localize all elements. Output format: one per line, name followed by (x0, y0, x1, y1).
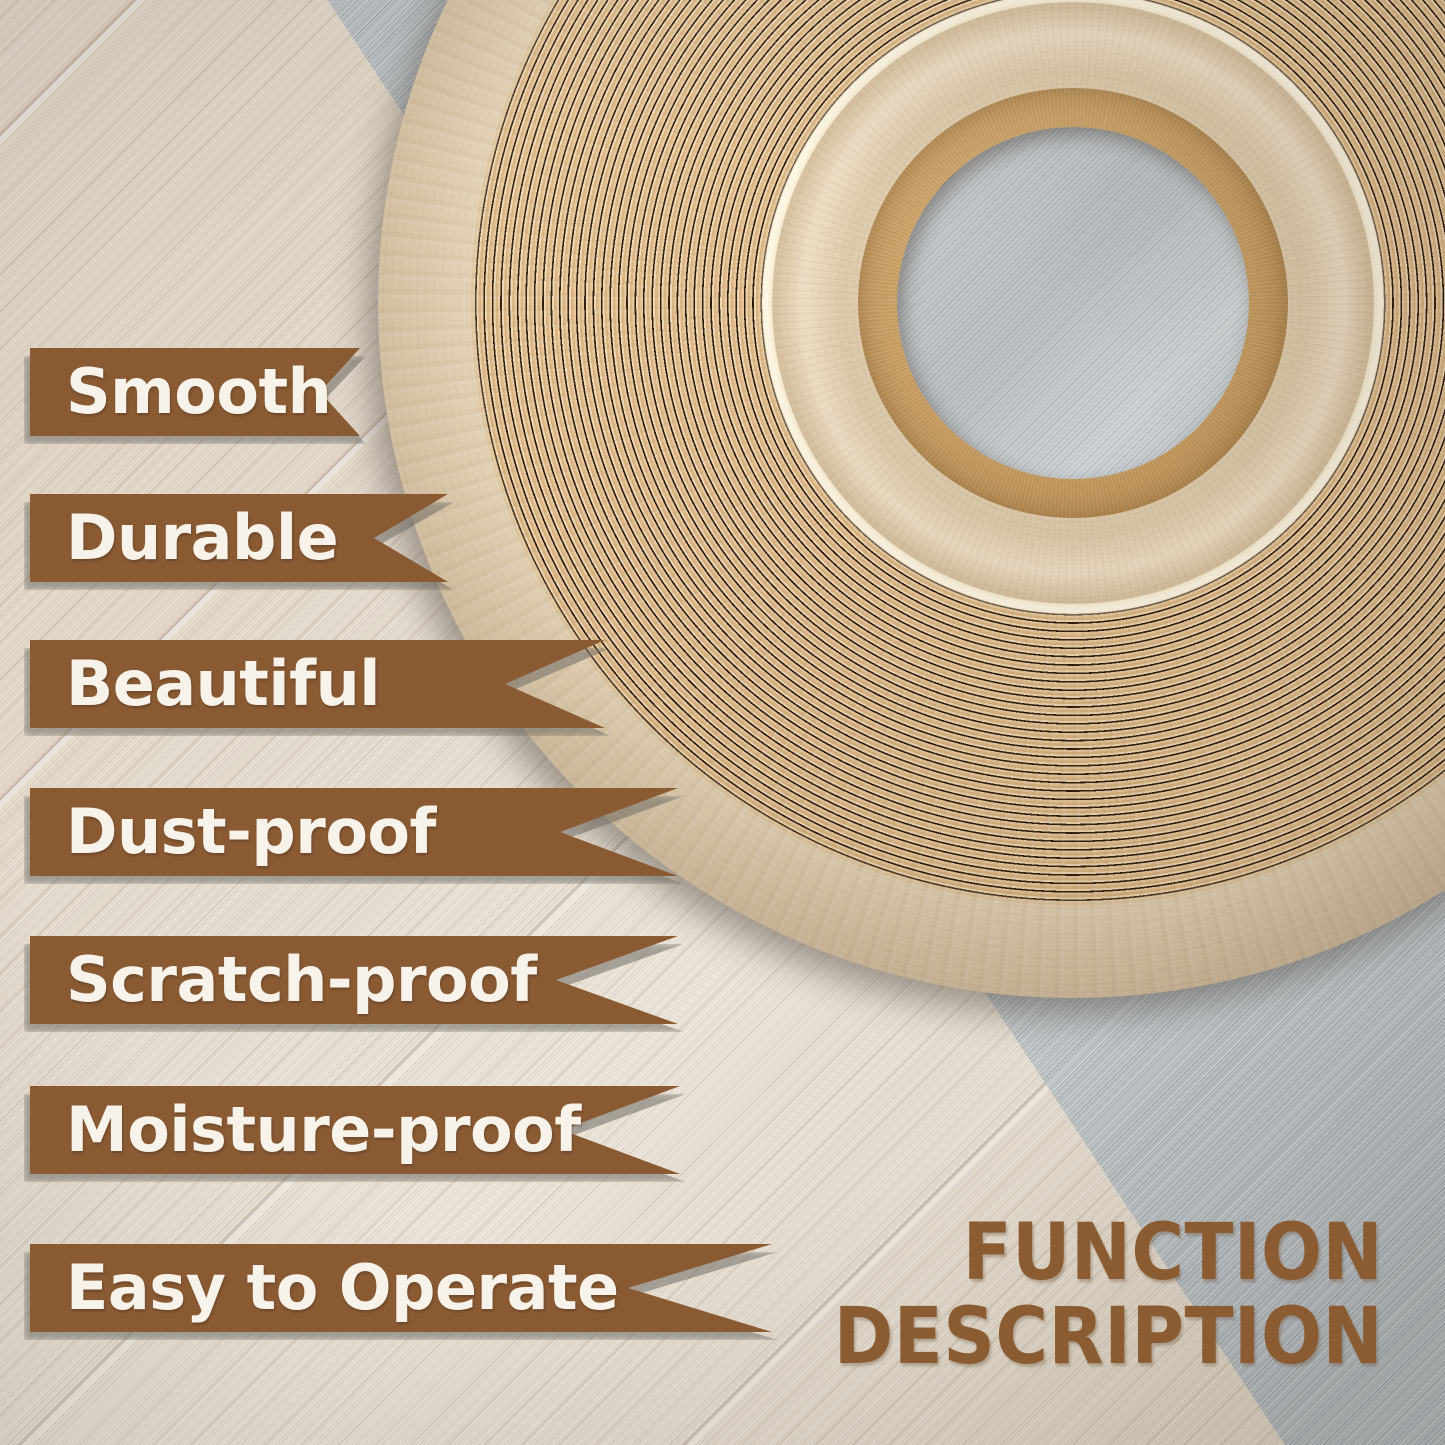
feature-banner: Easy to Operate (30, 1244, 772, 1332)
feature-banner: Beautiful (30, 640, 605, 728)
feature-banner: Dust-proof (30, 788, 678, 876)
feature-banner-label: Scratch-proof (30, 949, 537, 1011)
feature-banner-label: Easy to Operate (30, 1257, 619, 1319)
feature-banner: Moisture-proof (30, 1086, 680, 1174)
feature-banner-label: Dust-proof (30, 801, 436, 863)
page-title-line-2: DESCRIPTION (834, 1296, 1383, 1379)
feature-banner-label: Moisture-proof (30, 1099, 581, 1161)
product-feature-graphic: SmoothDurableBeautifulDust-proofScratch-… (0, 0, 1445, 1445)
feature-banner-label: Beautiful (30, 653, 380, 715)
feature-banner: Smooth (30, 348, 360, 436)
feature-banner: Scratch-proof (30, 936, 678, 1024)
page-title-line-1: FUNCTION (834, 1212, 1383, 1295)
page-title: FUNCTION DESCRIPTION (834, 1212, 1383, 1379)
feature-banner-label: Smooth (30, 361, 331, 423)
feature-banner-label: Durable (30, 507, 338, 569)
feature-banner: Durable (30, 494, 448, 582)
